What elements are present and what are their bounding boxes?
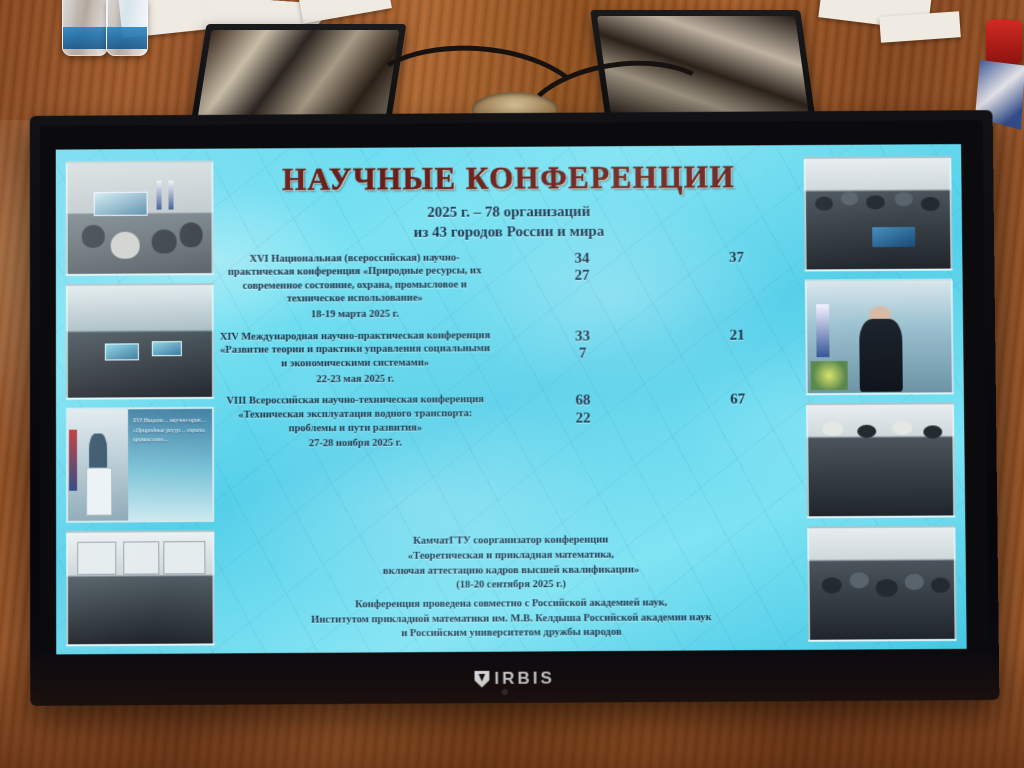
conference-row: VIII Всероссийская научно-техническая ко…	[218, 392, 802, 452]
authors-stats: 68 авторов КамчатГТУ 22 авторов из други…	[492, 392, 673, 428]
photo-person	[821, 577, 841, 594]
photo-poster	[123, 541, 160, 574]
table-shadow	[0, 648, 1024, 768]
photo-speaker-body	[859, 319, 903, 393]
photo-seated-guests	[806, 402, 955, 518]
photo-person	[895, 193, 912, 206]
publications-stats: 21 научная публикация	[673, 327, 802, 345]
authors-own-count: 33	[492, 328, 673, 346]
photo-person	[866, 195, 885, 209]
photo-lecture-room	[66, 530, 215, 647]
photo-person	[892, 421, 912, 434]
publications-stats: 67 научных публикаций	[673, 392, 802, 410]
publications-count: 67	[673, 392, 802, 410]
photo-person	[857, 424, 876, 437]
photo-person	[82, 225, 105, 247]
photo-column-right	[804, 156, 957, 642]
photo-flag	[168, 180, 173, 209]
authors-stats: 34 автора КамчатГТУ 27 авторов из других…	[492, 250, 673, 285]
publications-count: 21	[673, 327, 802, 345]
conference-title: XVI Национальная (всероссийская) научно-…	[228, 252, 482, 305]
slide-title: НАУЧНЫЕ КОНФЕРЕНЦИИ	[282, 159, 735, 198]
photo-presentation-screen	[94, 192, 148, 216]
photo-person	[111, 232, 140, 259]
slide-content: НАУЧНЫЕ КОНФЕРЕНЦИИ 2025 г. – 78 организ…	[217, 151, 804, 649]
photo-person	[923, 425, 942, 438]
authors-own-count: 34	[492, 250, 673, 268]
photo-podium-and-banner: XVI Национ… научно-прак… «Природные ресу…	[66, 406, 214, 522]
publications-count: 37	[672, 249, 800, 267]
authors-other-count: 7	[492, 345, 673, 363]
photo-flowers	[810, 361, 848, 390]
photo-person	[823, 422, 843, 435]
slide-subtitle: 2025 г. – 78 организаций из 43 городов Р…	[414, 202, 605, 243]
photo-person	[850, 572, 869, 588]
desk-scene: XVI Национ… научно-прак… «Природные ресу…	[0, 0, 1024, 768]
photo-monitor	[105, 343, 139, 360]
footer-line-7: и Российским университетом дружбы народо…	[311, 626, 711, 643]
publications-stats: 37 научных публикаций	[672, 249, 800, 267]
conference-date: 27-28 ноября 2025 г.	[218, 436, 493, 451]
photo-poster	[163, 541, 205, 575]
photo-laptop	[872, 227, 915, 247]
photo-flag	[157, 181, 162, 210]
photo-flag	[816, 304, 829, 357]
photo-column-left: XVI Национ… научно-прак… «Природные ресу…	[66, 161, 215, 647]
paper-sheet	[879, 11, 961, 43]
photo-person	[876, 579, 898, 597]
footer-line-6: Институтом прикладной математики им. М.В…	[311, 611, 711, 628]
conference-rows: XVI Национальная (всероссийская) научно-…	[218, 249, 803, 452]
photo-flag	[69, 429, 77, 490]
water-bottle	[62, 0, 108, 56]
television: XVI Национ… научно-прак… «Природные ресу…	[30, 110, 1000, 706]
photo-audience-laptops	[804, 156, 953, 272]
conference-row: XIV Международная научно-практическая ко…	[218, 327, 802, 387]
authors-own-count: 68	[492, 392, 673, 410]
photo-conference-banner: XVI Национ… научно-прак… «Природные ресу…	[128, 408, 212, 520]
presentation-slide: XVI Национ… научно-прак… «Природные ресу…	[56, 144, 967, 654]
photo-person	[815, 196, 834, 210]
water-bottle	[106, 0, 148, 56]
conference-row: XVI Национальная (всероссийская) научно-…	[218, 249, 802, 323]
photo-speaker-with-microphone	[805, 279, 954, 395]
bottle-label	[107, 27, 147, 49]
subtitle-line-2: из 43 городов России и мира	[414, 222, 605, 243]
conference-title: VIII Всероссийская научно-техническая ко…	[226, 394, 484, 433]
authors-other-count: 27	[492, 267, 673, 285]
photo-person	[905, 574, 924, 590]
photo-banner-text: XVI Национ… научно-прак… «Природные ресу…	[133, 417, 209, 445]
authors-other-count: 22	[492, 410, 673, 428]
footer-line-4: (18-20 сентября 2025 г.)	[311, 577, 711, 594]
conference-description: VIII Всероссийская научно-техническая ко…	[218, 393, 493, 451]
photo-person	[151, 229, 177, 254]
photo-person	[840, 192, 857, 205]
photo-lectern	[86, 467, 112, 516]
slide-footer: КамчатГТУ соорганизатор конференции «Тео…	[311, 533, 712, 643]
photo-poster	[77, 541, 117, 574]
photo-conference-hall	[66, 161, 214, 277]
subtitle-line-1: 2025 г. – 78 организаций	[414, 202, 605, 223]
conference-description: XIV Международная научно-практическая ко…	[218, 329, 493, 387]
authors-stats: 33 автора КамчатГТУ 7 авторов из других …	[492, 328, 673, 364]
photo-large-audience	[807, 525, 956, 642]
conference-date: 22-23 мая 2025 г.	[218, 372, 492, 387]
conference-title: XIV Международная научно-практическая ко…	[220, 330, 491, 370]
photo-podium	[68, 409, 129, 521]
red-cup	[986, 20, 1022, 64]
bottle-label	[63, 27, 107, 49]
conference-date: 18-19 марта 2025 г.	[218, 307, 492, 322]
photo-person	[180, 222, 203, 247]
photo-person	[921, 197, 940, 211]
photo-monitor	[151, 341, 182, 357]
photo-person	[931, 577, 950, 593]
photo-round-table-meeting	[66, 283, 214, 399]
conference-description: XVI Национальная (всероссийская) научно-…	[218, 251, 492, 323]
tv-screen: XVI Национ… научно-прак… «Природные ресу…	[56, 144, 967, 654]
